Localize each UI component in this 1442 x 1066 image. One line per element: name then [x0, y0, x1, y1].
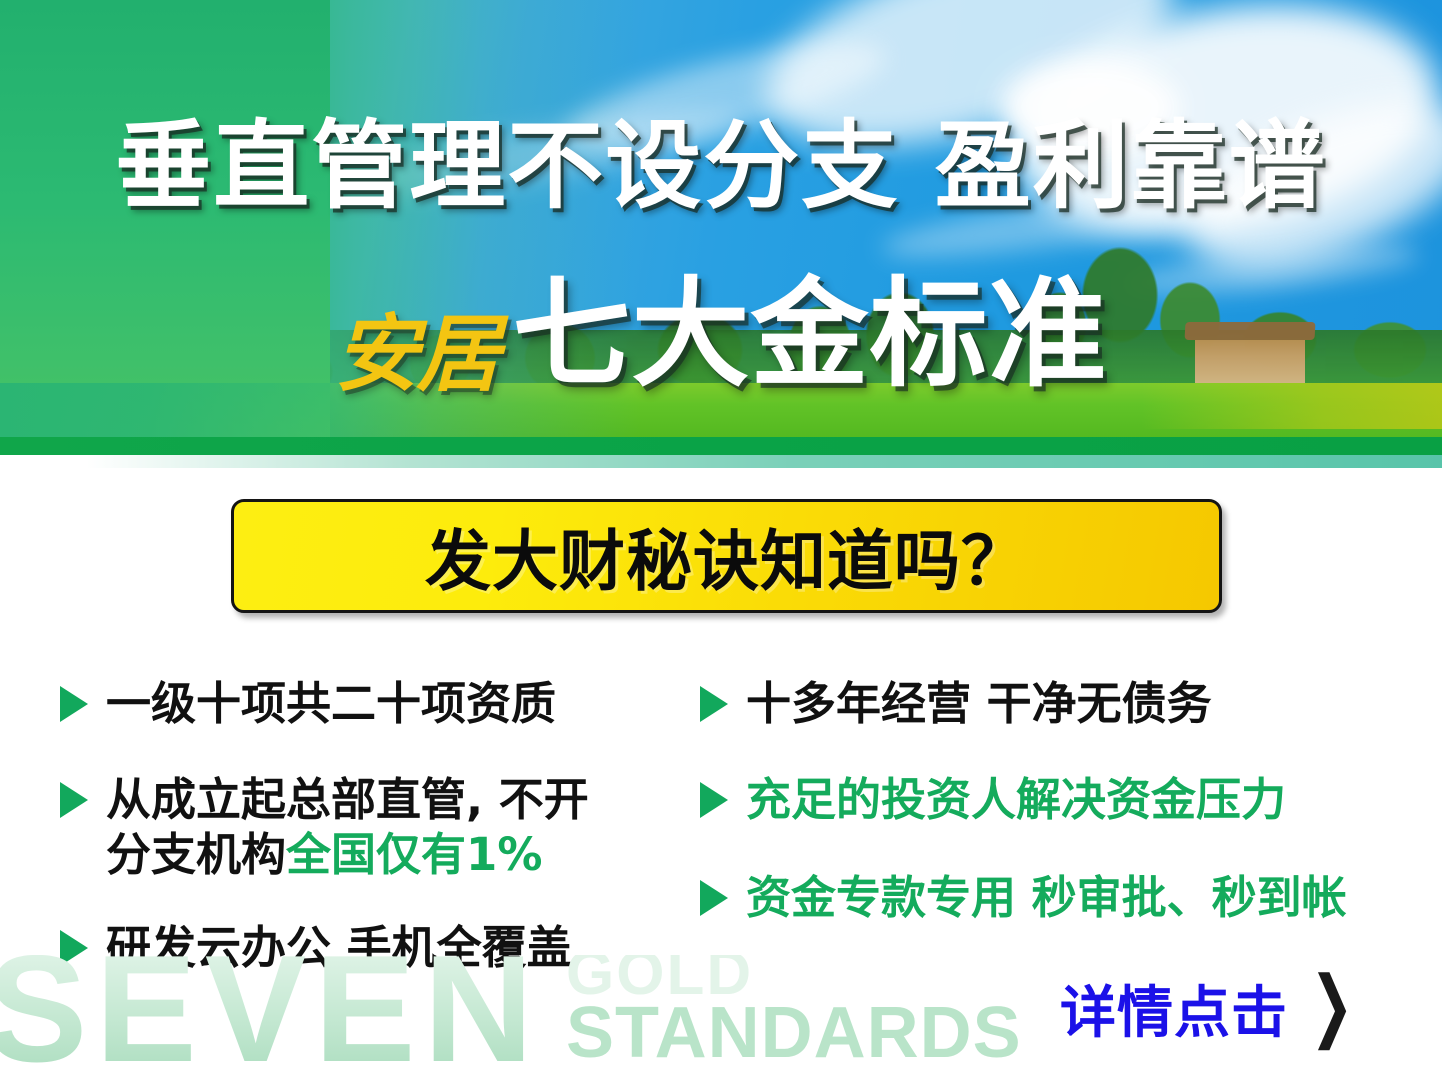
feature-item-direct-management: 从成立起总部直管, 不开 分支机构全国仅有1% [60, 773, 589, 883]
feature-line-2-plain: 分支机构 [106, 828, 286, 881]
hero-banner: 垂直管理不设分支 盈利靠谱 安居七大金标准 [0, 0, 1442, 455]
feature-label: 十多年经营 干净无债务 [746, 677, 1212, 732]
hero-headline-primary: 垂直管理不设分支 盈利靠谱 [0, 118, 1442, 214]
ribbon-label: 发大财秘诀知道吗？ [425, 508, 1028, 604]
headline-ribbon-banner[interactable]: 发大财秘诀知道吗？ [231, 499, 1222, 613]
details-cta-link[interactable]: 详情点击 ❯ [1060, 968, 1354, 1049]
feature-label: 一级十项共二十项资质 [106, 677, 556, 732]
hero-brand-text: 安居 [334, 312, 498, 396]
chevron-right-icon: ❯ [1310, 967, 1354, 1045]
hero-bottom-bar [0, 437, 1442, 455]
cta-label: 详情点击 [1060, 968, 1288, 1049]
feature-item-years-operating: 十多年经营 干净无债务 [700, 677, 1212, 732]
feature-item-qualifications: 一级十项共二十项资质 [60, 677, 556, 732]
hero-headline-secondary: 安居七大金标准 [0, 275, 1442, 393]
hero-standards-text: 七大金标准 [513, 275, 1108, 393]
hero-bottom-fade [0, 455, 1442, 468]
feature-line-2-highlight: 全国仅有1% [286, 828, 542, 881]
feature-label: 资金专款专用 秒审批、秒到帐 [746, 871, 1347, 926]
feature-item-dedicated-funds: 资金专款专用 秒审批、秒到帐 [700, 871, 1347, 926]
watermark-standards-text: STANDARDS [566, 997, 1022, 1066]
triangle-bullet-icon [700, 880, 728, 916]
triangle-bullet-icon [60, 782, 88, 818]
feature-item-investors: 充足的投资人解决资金压力 [700, 773, 1286, 828]
triangle-bullet-icon [60, 686, 88, 722]
features-section: 一级十项共二十项资质 从成立起总部直管, 不开 分支机构全国仅有1% 研发云办公… [0, 655, 1442, 985]
feature-line-1: 从成立起总部直管, 不开 [106, 773, 589, 826]
triangle-bullet-icon [60, 930, 88, 966]
feature-label: 充足的投资人解决资金压力 [746, 773, 1286, 828]
feature-label: 从成立起总部直管, 不开 分支机构全国仅有1% [106, 773, 589, 883]
feature-item-cloud-office: 研发云办公 手机全覆盖 [60, 921, 572, 976]
triangle-bullet-icon [700, 686, 728, 722]
feature-label: 研发云办公 手机全覆盖 [106, 921, 572, 976]
triangle-bullet-icon [700, 782, 728, 818]
